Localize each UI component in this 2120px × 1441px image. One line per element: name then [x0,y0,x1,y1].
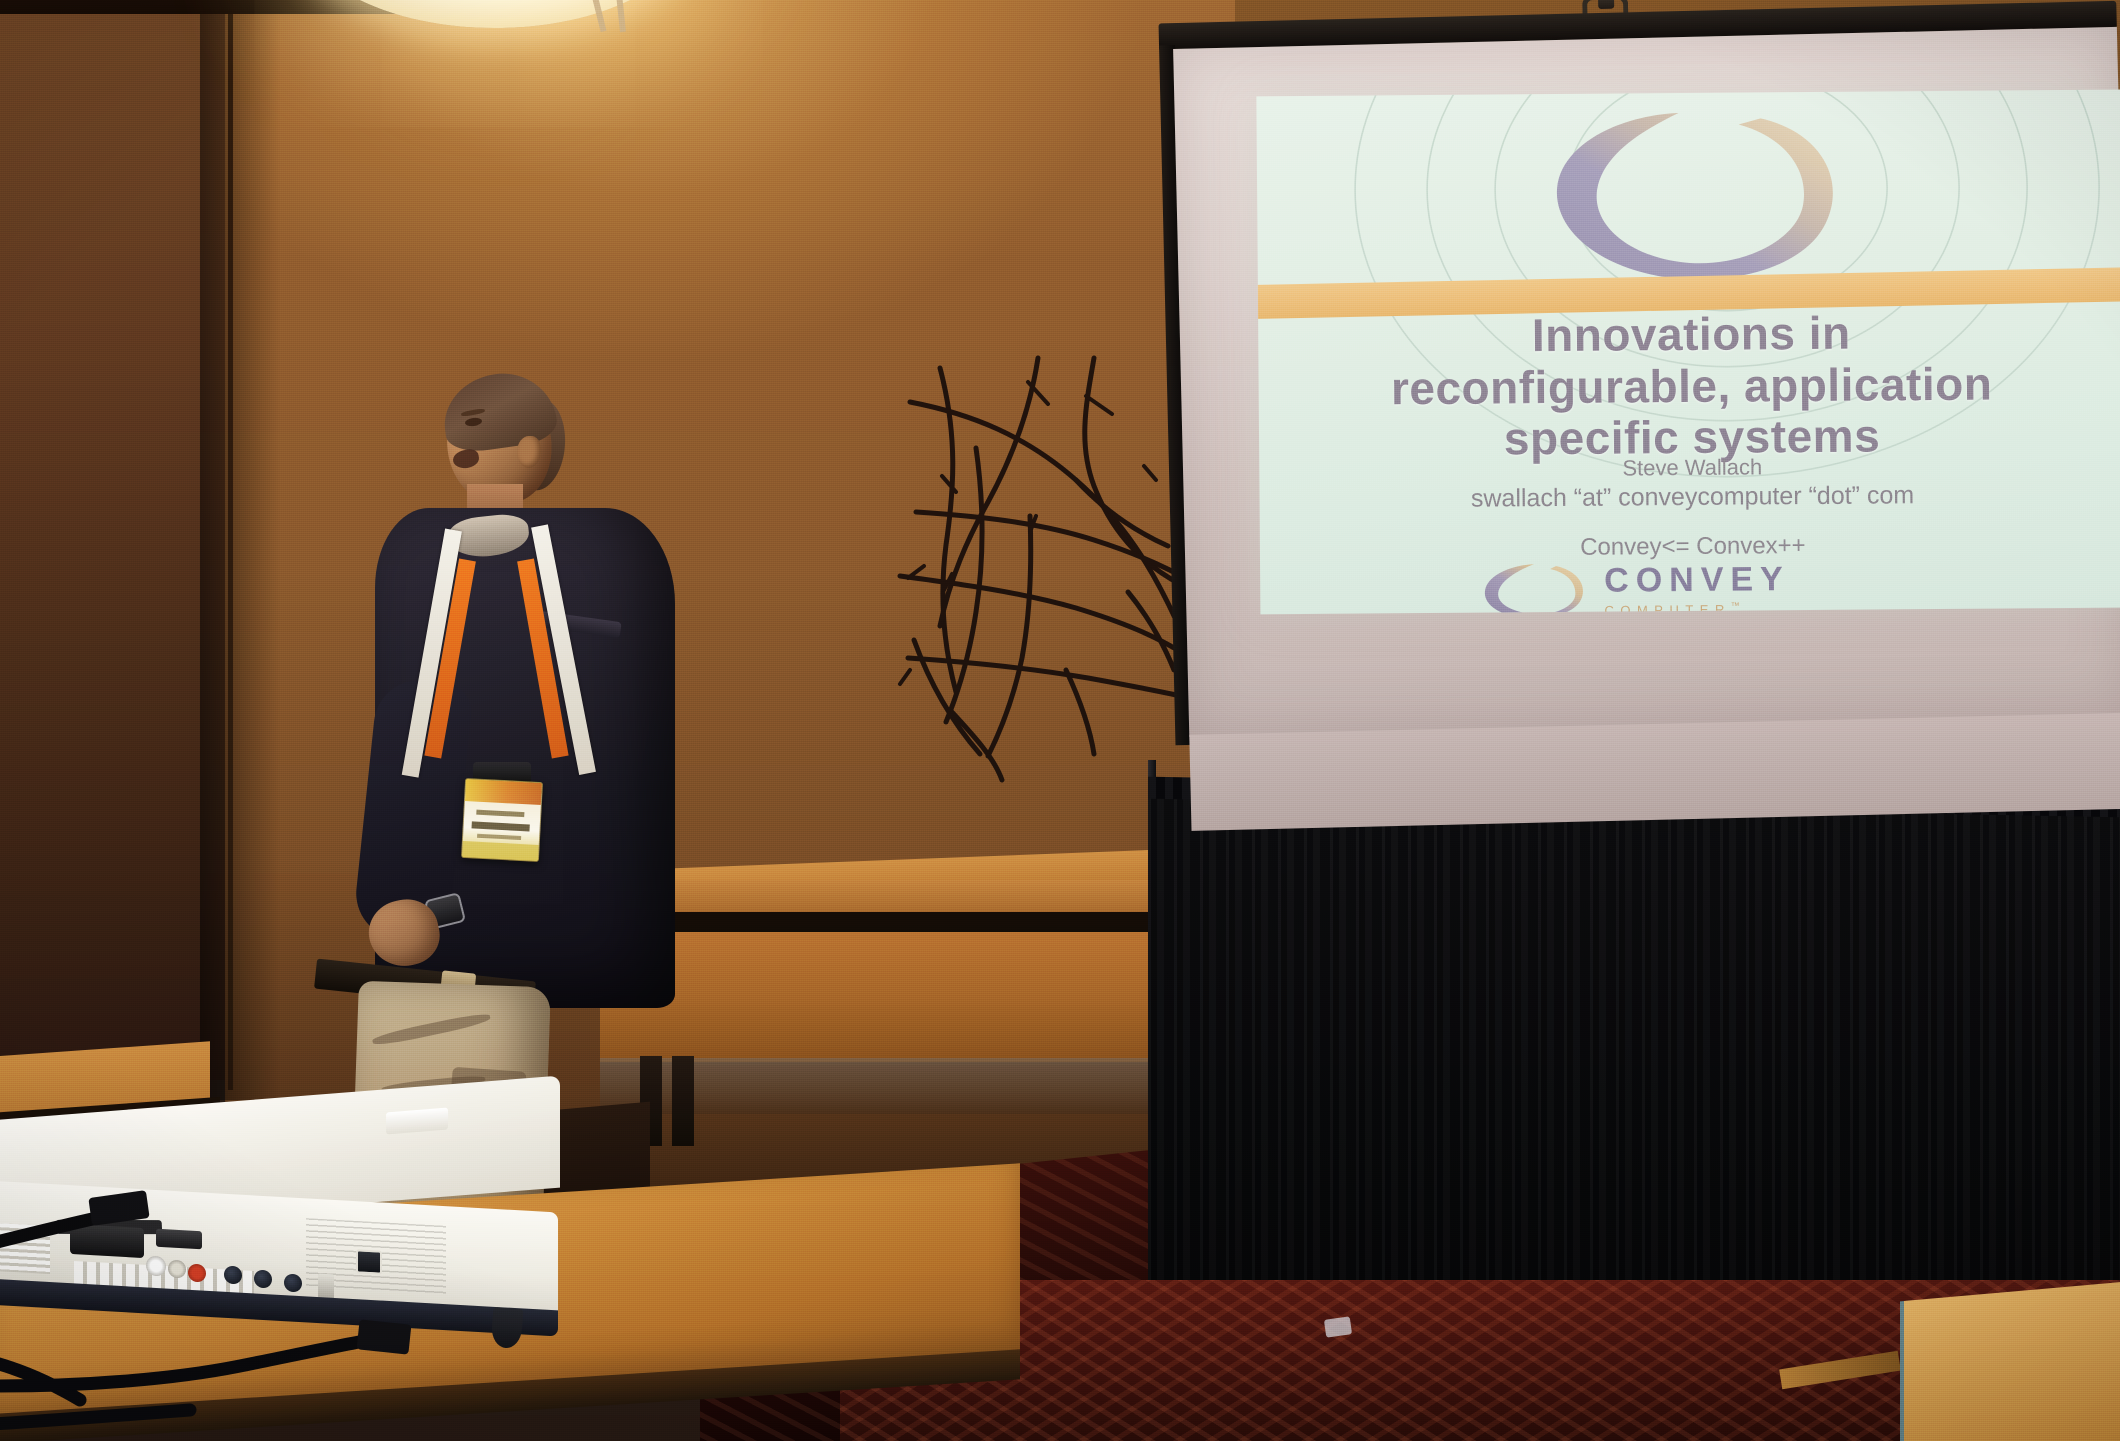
projected-slide: Innovations in reconfigurable, applicati… [1256,90,2120,615]
trademark-icon: ™ [1731,600,1747,610]
screen-frame: Innovations in reconfigurable, applicati… [1158,1,2120,841]
ear [517,436,541,468]
paper-scrap [1324,1316,1352,1337]
convey-swoosh-logo-icon [1524,106,1855,289]
convey-subtext: COMPUTER™ [1604,600,1790,614]
wood-bench-table [600,880,1180,1140]
convey-wordmark-text: CONVEY [1604,562,1790,597]
fabric-crease [371,1011,491,1048]
left-wall [0,0,232,1080]
slide-title-line-2: reconfigurable, application [1278,357,2104,415]
convey-wordmark: CONVEY COMPUTER™ [1604,562,1790,614]
projector-cables [0,1180,660,1441]
bench-leg [672,1056,694,1146]
badge-text-line [477,834,521,840]
twig-wall-sculpture [880,340,1200,790]
badge-name-line [472,821,530,831]
right-wood-table [1900,1279,2120,1441]
convey-computer-logo: CONVEY COMPUTER™ [1482,557,1902,614]
badge-footer-strip [462,841,539,861]
screen-hook-body [1598,0,1614,9]
bench-surface [600,880,1180,914]
slide-title-line-1: Innovations in [1278,306,2104,364]
photo-scene: Innovations in reconfigurable, applicati… [0,0,2120,1441]
projection-screen: Innovations in reconfigurable, applicati… [1168,12,2120,830]
screen-surface: Innovations in reconfigurable, applicati… [1173,27,2120,737]
bench-front-panel [600,932,1180,1062]
slide-title: Innovations in reconfigurable, applicati… [1278,306,2105,467]
convey-subtext-text: COMPUTER [1604,602,1731,615]
convey-ring-icon [1482,562,1590,615]
badge-header-strip [465,779,542,805]
ceiling-plate [0,0,420,14]
badge-text-line [476,810,524,818]
corner-shadow [200,0,280,1100]
conference-badge [461,778,543,862]
